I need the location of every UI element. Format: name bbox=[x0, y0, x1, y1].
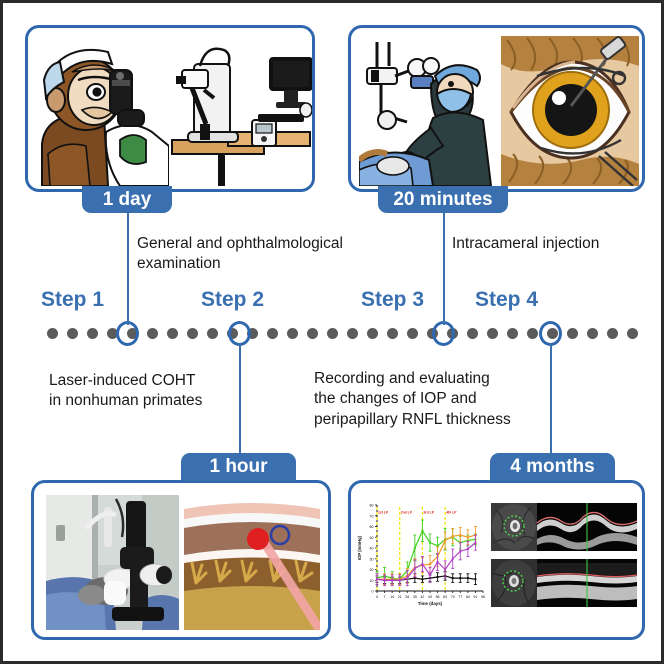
timeline-dot bbox=[167, 328, 178, 339]
oct-fundus-and-bscan-top bbox=[491, 503, 637, 551]
connector-step4 bbox=[550, 343, 552, 453]
timeline-dot bbox=[607, 328, 618, 339]
connector-step1 bbox=[127, 213, 129, 325]
surgeon-operating-microscope-cartoon bbox=[359, 36, 499, 186]
laser-procedure-photograph bbox=[46, 495, 179, 630]
svg-text:28: 28 bbox=[405, 595, 409, 599]
badge-twenty-minutes: 20 minutes bbox=[378, 186, 508, 213]
svg-text:91: 91 bbox=[473, 595, 477, 599]
badge-four-months: 4 months bbox=[490, 453, 615, 481]
description-step2: General and ophthalmological examination bbox=[137, 234, 397, 275]
description-step3-line1: Recording and evaluating bbox=[314, 369, 564, 389]
description-step4: Intracameral injection bbox=[452, 234, 662, 254]
timeline-dot bbox=[147, 328, 158, 339]
svg-text:14: 14 bbox=[390, 595, 394, 599]
svg-text:60: 60 bbox=[370, 525, 374, 529]
timeline-dot bbox=[347, 328, 358, 339]
svg-text:50: 50 bbox=[370, 536, 374, 540]
oct-fundus-and-bscan-bottom bbox=[491, 559, 637, 607]
svg-text:3rd LP: 3rd LP bbox=[423, 511, 434, 515]
timeline-dot bbox=[47, 328, 58, 339]
step-label-4: Step 4 bbox=[475, 288, 538, 312]
step-label-1: Step 1 bbox=[41, 288, 104, 312]
iop-time-course-chart: 0102030405060708007142128354249566370778… bbox=[355, 499, 485, 615]
badge-one-day: 1 day bbox=[82, 186, 172, 213]
svg-text:0: 0 bbox=[372, 590, 374, 594]
svg-text:1st LP: 1st LP bbox=[378, 511, 389, 515]
timeline-dot bbox=[487, 328, 498, 339]
timeline-dot bbox=[287, 328, 298, 339]
svg-text:40: 40 bbox=[370, 547, 374, 551]
timeline-dot bbox=[627, 328, 638, 339]
svg-text:98: 98 bbox=[481, 595, 485, 599]
slit-lamp-and-monitor-equipment-cartoon bbox=[170, 36, 312, 186]
svg-text:Time (days): Time (days) bbox=[418, 601, 443, 606]
panel-iop-and-oct-results: 0102030405060708007142128354249566370778… bbox=[348, 480, 645, 640]
description-step4-line1: Intracameral injection bbox=[452, 234, 662, 254]
timeline-dot bbox=[307, 328, 318, 339]
svg-text:70: 70 bbox=[451, 595, 455, 599]
svg-text:30: 30 bbox=[370, 557, 374, 561]
connector-step3 bbox=[443, 213, 445, 325]
svg-text:10: 10 bbox=[370, 579, 374, 583]
timeline-dot bbox=[327, 328, 338, 339]
trabecular-meshwork-laser-diagram bbox=[184, 495, 320, 630]
timeline-dot bbox=[187, 328, 198, 339]
panel-ophthalmological-examination bbox=[25, 25, 315, 192]
svg-text:77: 77 bbox=[458, 595, 462, 599]
timeline-dot bbox=[507, 328, 518, 339]
svg-text:7: 7 bbox=[384, 595, 386, 599]
panel-laser-photocoagulation bbox=[31, 480, 331, 640]
svg-text:2nd LP: 2nd LP bbox=[401, 511, 413, 515]
description-step3-line3: peripapillary RNFL thickness bbox=[314, 410, 564, 430]
description-step2-line1: General and ophthalmological bbox=[137, 234, 397, 254]
svg-text:80: 80 bbox=[370, 504, 374, 508]
description-step1-line2: in nonhuman primates bbox=[49, 391, 259, 411]
timeline-dot bbox=[207, 328, 218, 339]
svg-text:20: 20 bbox=[370, 568, 374, 572]
description-step1-line1: Laser-induced COHT bbox=[49, 371, 259, 391]
description-step1: Laser-induced COHT in nonhuman primates bbox=[49, 371, 259, 412]
timeline-dot bbox=[407, 328, 418, 339]
badge-one-hour: 1 hour bbox=[181, 453, 296, 481]
timeline-dot bbox=[587, 328, 598, 339]
monkey-slit-lamp-examination-cartoon bbox=[34, 36, 169, 186]
svg-text:70: 70 bbox=[370, 514, 374, 518]
svg-text:IOP (mmHg): IOP (mmHg) bbox=[357, 535, 362, 560]
svg-text:21: 21 bbox=[398, 595, 402, 599]
svg-text:42: 42 bbox=[420, 595, 424, 599]
timeline-dot bbox=[527, 328, 538, 339]
panel-intracameral-injection bbox=[348, 25, 645, 192]
timeline-dot bbox=[87, 328, 98, 339]
svg-text:0: 0 bbox=[376, 595, 378, 599]
description-step2-line2: examination bbox=[137, 254, 397, 274]
description-step3: Recording and evaluating the changes of … bbox=[314, 369, 564, 430]
timeline-track bbox=[3, 321, 664, 347]
timeline-dot bbox=[267, 328, 278, 339]
svg-text:56: 56 bbox=[436, 595, 440, 599]
step-label-2: Step 2 bbox=[201, 288, 264, 312]
timeline-dot bbox=[387, 328, 398, 339]
timeline-dot bbox=[67, 328, 78, 339]
description-step3-line2: the changes of IOP and bbox=[314, 389, 564, 409]
timeline-dot bbox=[567, 328, 578, 339]
svg-text:35: 35 bbox=[413, 595, 417, 599]
timeline-dot bbox=[367, 328, 378, 339]
eye-with-injection-needle-cartoon bbox=[501, 36, 639, 186]
svg-text:63: 63 bbox=[443, 595, 447, 599]
step-label-3: Step 3 bbox=[361, 288, 424, 312]
timeline-dot bbox=[467, 328, 478, 339]
connector-step2 bbox=[239, 343, 241, 453]
figure-root: 1 day bbox=[0, 0, 664, 664]
svg-text:84: 84 bbox=[466, 595, 470, 599]
svg-text:4th LP: 4th LP bbox=[446, 511, 457, 515]
svg-text:49: 49 bbox=[428, 595, 432, 599]
